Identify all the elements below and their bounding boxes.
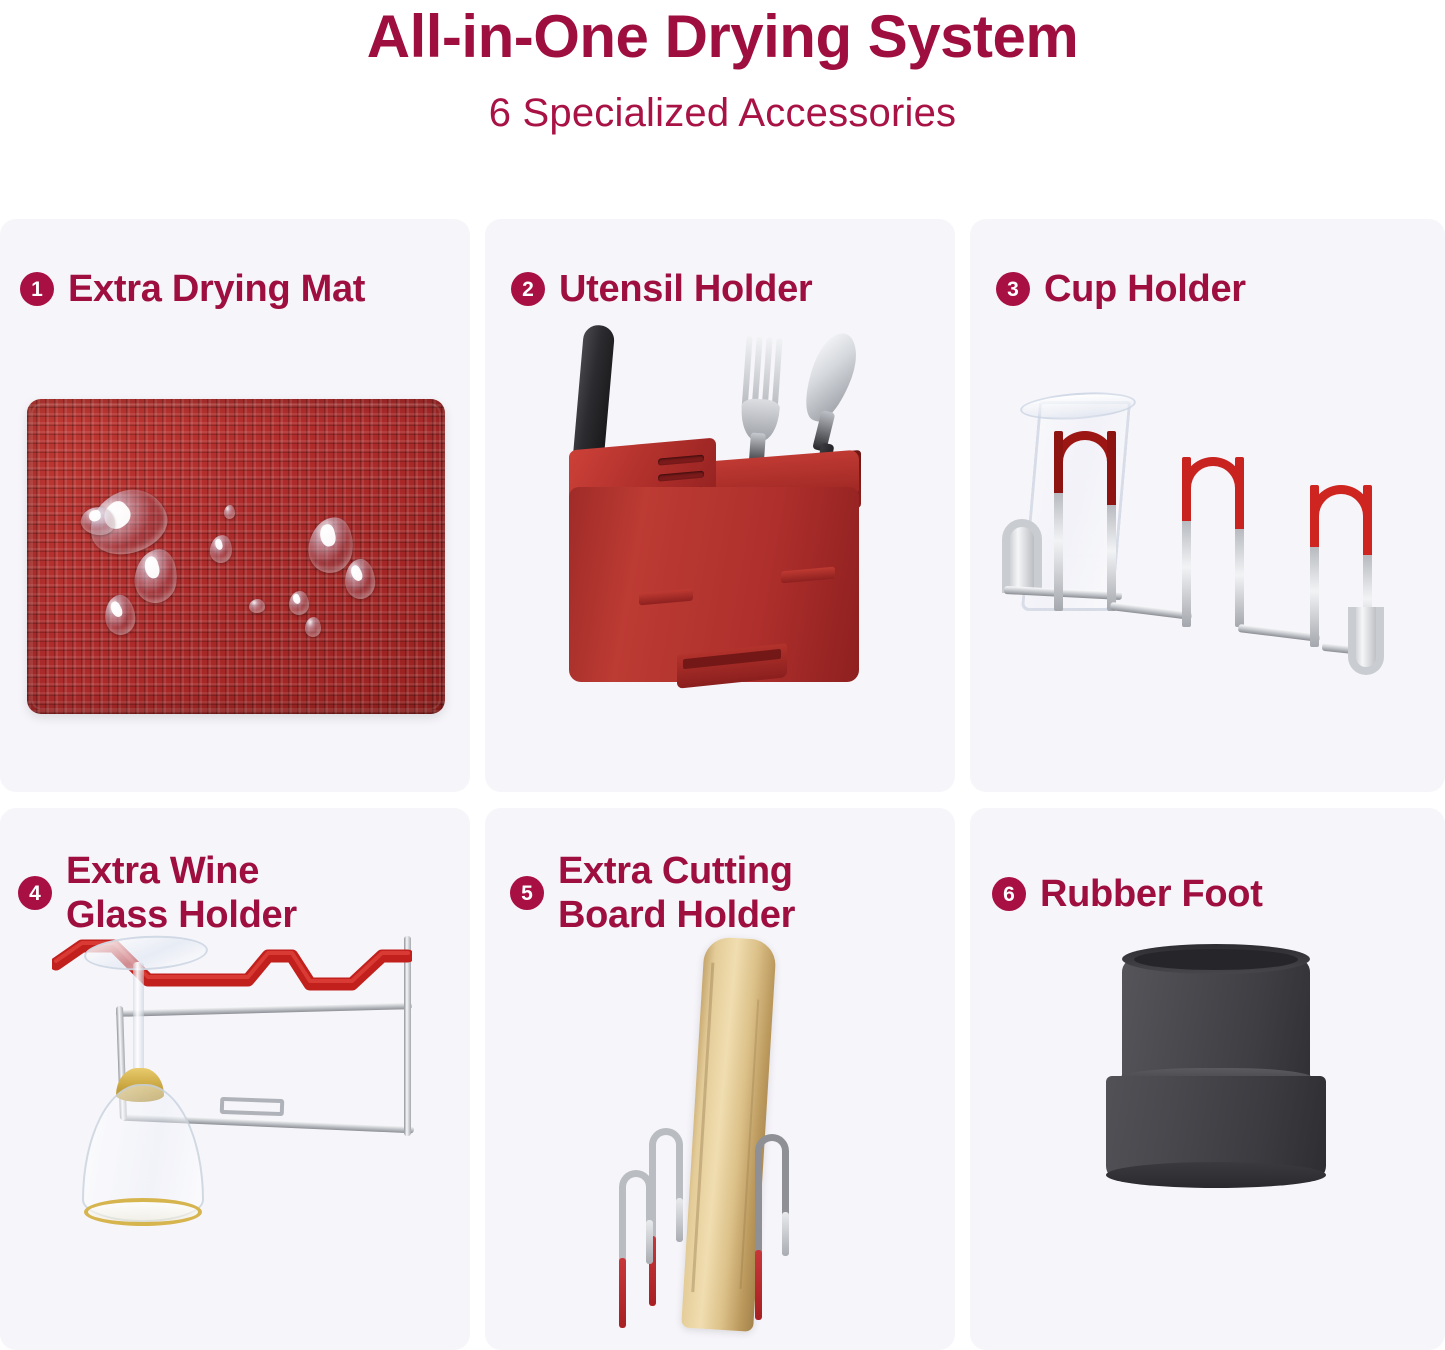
cup-holder-illustration xyxy=(970,219,1445,792)
frame-top-bar xyxy=(116,1002,412,1017)
accessory-card-cup-holder[interactable]: 3 Cup Holder xyxy=(970,219,1445,792)
cup-arch-1 xyxy=(1054,431,1116,611)
frame-clip xyxy=(220,1097,285,1116)
wine-glass-stem xyxy=(133,962,144,1074)
drying-mat-illustration xyxy=(0,219,470,792)
header: All-in-One Drying System 6 Specialized A… xyxy=(0,0,1445,205)
end-hook-left xyxy=(1002,519,1042,593)
bamboo-cutting-board xyxy=(681,936,777,1332)
accessory-card-cutting-board-holder[interactable]: 5 Extra Cutting Board Holder xyxy=(485,808,955,1350)
silicone-mat xyxy=(27,399,445,714)
cutting-board-holder-illustration xyxy=(485,808,955,1350)
page-subtitle: 6 Specialized Accessories xyxy=(0,67,1445,133)
cup-arch-2 xyxy=(1182,457,1244,627)
rubber-foot-lower xyxy=(1106,1076,1326,1180)
rubber-foot-opening xyxy=(1122,944,1310,974)
rubber-foot-illustration xyxy=(970,808,1445,1350)
accessory-card-drying-mat[interactable]: 1 Extra Drying Mat xyxy=(0,219,470,792)
wine-glass-holder-illustration xyxy=(0,808,470,1350)
accessory-card-rubber-foot[interactable]: 6 Rubber Foot xyxy=(970,808,1445,1350)
board-hook-right xyxy=(755,1134,789,1254)
board-hook-inner-left xyxy=(619,1170,653,1262)
infographic-page: All-in-One Drying System 6 Specialized A… xyxy=(0,0,1445,1350)
accessory-card-wine-glass-holder[interactable]: 4 Extra Wine Glass Holder xyxy=(0,808,470,1350)
accessory-card-utensil-holder[interactable]: 2 Utensil Holder xyxy=(485,219,955,792)
utensil-holder-illustration xyxy=(485,219,955,792)
page-title: All-in-One Drying System xyxy=(0,0,1445,67)
wine-glass-gold-rim xyxy=(84,1198,202,1226)
board-hook-outer-left xyxy=(649,1128,683,1240)
accessory-grid: 1 Extra Drying Mat xyxy=(0,219,1445,1350)
end-hook-right xyxy=(1348,607,1384,675)
